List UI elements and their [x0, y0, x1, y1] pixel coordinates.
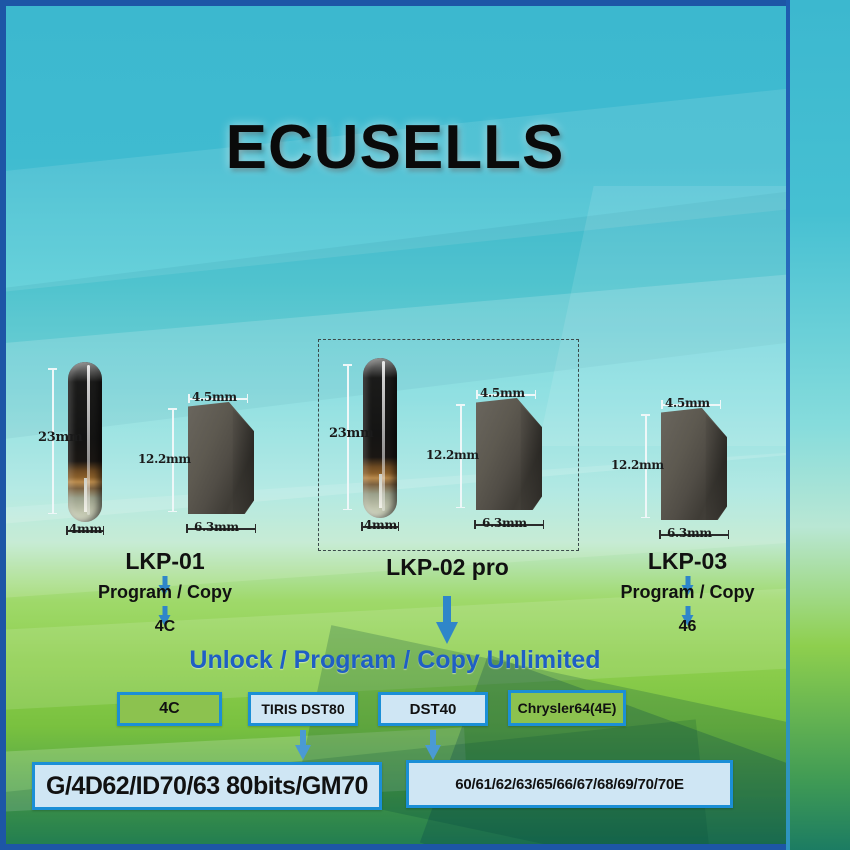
background-right-strip — [790, 0, 850, 850]
chip-type-box-4c[interactable]: 4C — [117, 692, 222, 726]
product-name-lkp-03: LKP-03 — [600, 548, 775, 575]
transponder-pin — [84, 478, 87, 512]
product-card-lkp-01: 23mm 4mm 4.5mm 12.2mm 6.3mm LKP-01 Progr… — [40, 350, 290, 540]
product-infographic: ECUSELLS 23mm 4mm 4.5mm — [0, 0, 850, 850]
connector-arrow-icon — [295, 730, 311, 760]
chip-top-width-label: 4.5mm — [665, 396, 710, 410]
product-images-lkp-01: 23mm 4mm 4.5mm 12.2mm 6.3mm — [40, 350, 290, 540]
page-title: ECUSELLS — [0, 112, 790, 183]
flow-headline: Unlock / Program / Copy Unlimited — [0, 646, 790, 675]
product-card-lkp-02-pro: 23mm 4mm 4.5mm 12.2mm 6.3mm LKP-02 pro — [315, 340, 580, 530]
product-card-lkp-03: 4.5mm 12.2mm 6.3mm LKP-03 Program / Copy… — [600, 390, 775, 540]
product-name-lkp-02-pro: LKP-02 pro — [315, 554, 580, 581]
chip-height-label: 12.2mm — [611, 458, 664, 472]
chip-bottom-width-label: 6.3mm — [667, 526, 712, 540]
glass-height-label: 23mm — [329, 426, 373, 441]
transponder-pin — [379, 474, 382, 508]
connector-arrow-icon — [425, 730, 441, 760]
product-action-lkp-01: Program / Copy — [40, 582, 290, 603]
product-images-lkp-03: 4.5mm 12.2mm 6.3mm — [600, 390, 775, 540]
carbon-chip-image — [476, 398, 542, 510]
carbon-chip-image — [661, 408, 727, 520]
glass-height-label: 23mm — [38, 430, 82, 445]
chip-top-width-label: 4.5mm — [192, 390, 237, 404]
chip-type-box-tiris-dst80[interactable]: TIRIS DST80 — [248, 692, 358, 726]
chip-height-label: 12.2mm — [426, 448, 479, 462]
background-ribbon — [6, 69, 786, 303]
chip-type-box-dst40[interactable]: DST40 — [378, 692, 488, 726]
output-box-transponder-list-1[interactable]: G/4D62/ID70/63 80bits/GM70 — [32, 762, 382, 810]
chip-type-box-chrysler64-4e[interactable]: Chrysler64(4E) — [508, 690, 626, 726]
main-flow-arrow-icon — [436, 596, 458, 644]
chip-bottom-width-label: 6.3mm — [482, 516, 527, 530]
product-images-lkp-02-pro: 23mm 4mm 4.5mm 12.2mm 6.3mm — [315, 340, 580, 530]
glass-diameter-label: 4mm — [69, 522, 102, 536]
chip-top-width-label: 4.5mm — [480, 386, 525, 400]
product-action-lkp-03: Program / Copy — [600, 582, 775, 603]
chip-bottom-width-label: 6.3mm — [194, 520, 239, 534]
glass-diameter-label: 4mm — [364, 518, 397, 532]
background-ribbon — [420, 654, 786, 844]
output-box-transponder-list-2[interactable]: 60/61/62/63/65/66/67/68/69/70/70E — [406, 760, 733, 808]
carbon-chip-image — [188, 402, 254, 514]
product-name-lkp-01: LKP-01 — [40, 548, 290, 575]
chip-height-label: 12.2mm — [138, 452, 191, 466]
product-result-lkp-01: 4C — [40, 618, 290, 636]
product-result-lkp-03: 46 — [600, 618, 775, 636]
